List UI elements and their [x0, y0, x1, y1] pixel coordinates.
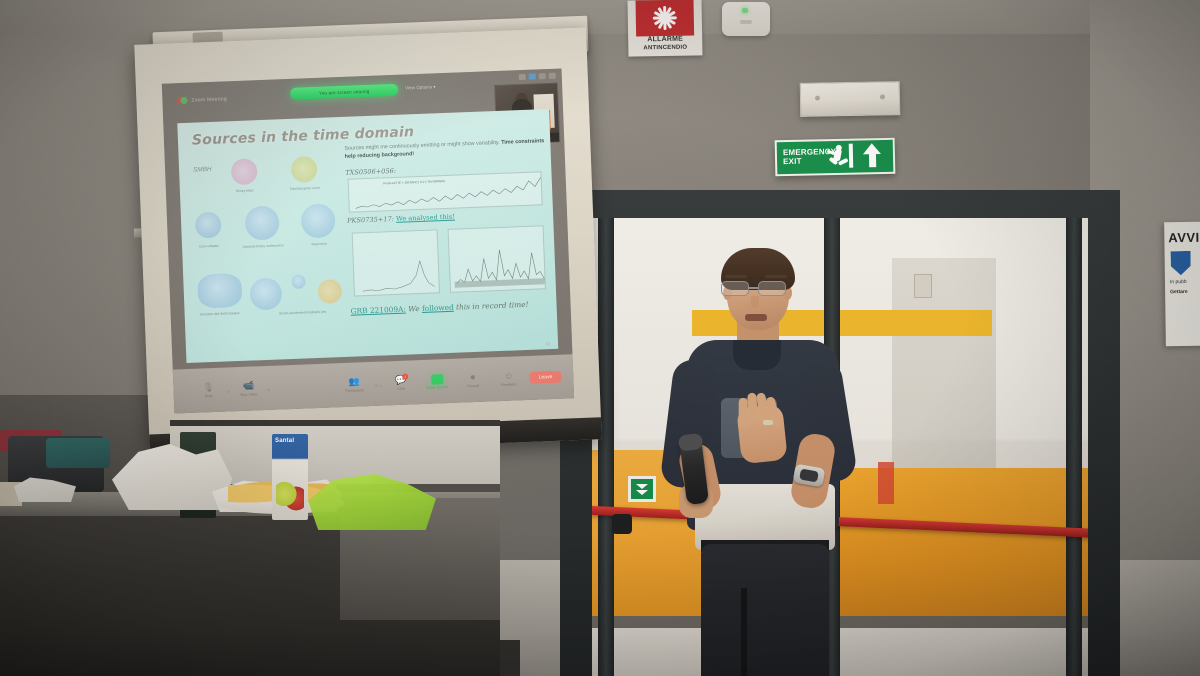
diagram-caption-3: Compact-binary coalescence [242, 243, 283, 249]
zoom-reactions-button[interactable]: ☺ Reactions [492, 370, 527, 388]
white-paper-bag [112, 444, 232, 510]
notice-info-icon [1171, 251, 1191, 275]
corridor-wall-switch [914, 274, 932, 298]
lightcurve-plot-left [352, 229, 440, 296]
diagram-caption-2: Core-collapse [199, 244, 219, 249]
mute-caret-icon[interactable]: ▴ [228, 389, 230, 398]
source-label-grb: GRB 221009A: We followed this in record … [350, 300, 528, 316]
video-camera-icon: 📹 [243, 380, 254, 391]
grb-link[interactable]: GRB 221009A: [350, 305, 406, 316]
fire-alarm-sign: ALLARME ANTINCENDIO [628, 0, 703, 57]
zoom-leave-button[interactable]: Leave [529, 371, 561, 384]
projected-image-area: Zoom Meeting You are screen sharing View… [162, 68, 574, 413]
presenter-brow-right [765, 275, 787, 278]
grb-followed-link[interactable]: followed [422, 303, 454, 313]
zoom-share-screen-button[interactable]: Share Screen [420, 374, 455, 391]
lightcurve-svg-left [353, 230, 441, 297]
share-screen-label: Share Screen [426, 386, 448, 390]
door-mullion-right [1066, 218, 1082, 676]
chat-bubble-icon: 💬1 [395, 374, 406, 385]
participants-label: Participants [345, 389, 364, 393]
zoom-record-button[interactable]: ⏺ Record [456, 371, 491, 389]
shirt-collar [733, 340, 781, 370]
projection-screen-assembly: Zoom Meeting You are screen sharing View… [120, 8, 600, 456]
slide-page-number: 13 [545, 341, 550, 346]
chat-label: Chat [397, 387, 405, 391]
diagram-caption-1: Tidal disruption event [290, 186, 320, 191]
door-handle[interactable] [612, 514, 632, 534]
notice-line-2: Gettare [1165, 285, 1200, 296]
notice-line-1: In pubb [1165, 275, 1200, 286]
juice-carton-santal: Santal [272, 434, 308, 520]
presentation-slide: Sources in the time domain Sources might… [177, 109, 558, 363]
pks-link[interactable]: We analysed this! [396, 213, 455, 223]
zoom-meeting-window[interactable]: Zoom Meeting You are screen sharing View… [162, 68, 574, 413]
projection-screen: Zoom Meeting You are screen sharing View… [134, 27, 601, 456]
up-arrow-icon [860, 143, 885, 169]
presenter [655, 248, 865, 676]
participants-count: 12 [373, 383, 378, 392]
presenter-nose [751, 296, 759, 308]
zoom-logo-icon [180, 97, 187, 104]
fire-alarm-label: ALLARME ANTINCENDIO [628, 35, 702, 53]
video-caret-icon[interactable]: ▴ [268, 387, 270, 396]
diagram-caption-0: Binary black [236, 188, 254, 193]
lightcurve-plot-right [448, 225, 546, 293]
lightcurve-svg-right [449, 226, 547, 294]
corridor-red-object [878, 462, 894, 504]
chat-badge: 1 [402, 373, 408, 379]
emergency-exit-sign: EMERGENCY EXIT [775, 138, 896, 177]
down-chevron-exit-icon [631, 479, 653, 499]
running-person-icon [823, 144, 854, 171]
zoom-logo: Zoom Meeting [180, 95, 227, 104]
door-mullion-left [598, 218, 614, 676]
photo-scene: ALLARME ANTINCENDIO EMERGENCY EXIT AVVIS… [0, 0, 1200, 676]
share-screen-icon [431, 374, 443, 384]
notice-heading: AVVISO [1164, 222, 1200, 246]
participants-caret-icon[interactable]: ▴ [380, 383, 382, 392]
zoom-logo-label: Zoom Meeting [191, 96, 227, 103]
stop-video-label: Stop Video [240, 393, 258, 397]
trouser-seam [741, 588, 747, 676]
restore-icon[interactable] [529, 73, 536, 79]
screen-share-banner[interactable]: You are screen sharing [290, 84, 398, 100]
emergency-light-icon [800, 81, 901, 117]
juice-brand-label: Santal [275, 438, 305, 454]
maximize-icon[interactable] [539, 73, 546, 79]
zoom-toolbar[interactable]: 🎙 Mute ▴ 📹 Stop Video ▴ [173, 354, 574, 413]
notice-poster: AVVISO In pubb Gettare [1164, 222, 1200, 347]
view-options-label: View Options [405, 84, 432, 90]
reactions-icon: ☺ [503, 370, 514, 381]
zoom-stop-video-button[interactable]: 📹 Stop Video [231, 380, 266, 398]
lightcurve-plot-txs: Fermi-LAT (E > 100 MeV) | 0.1-1 TeV (MAG… [348, 171, 543, 212]
exit-sign-label: EMERGENCY EXIT [777, 148, 823, 167]
microphone-icon: 🎙 [203, 382, 214, 393]
snack-table: Santal [0, 416, 500, 676]
mute-label: Mute [205, 395, 213, 399]
presenter-mouth [745, 314, 767, 321]
zoom-mute-button[interactable]: 🎙 Mute [191, 381, 226, 399]
presenter-brow-left [725, 275, 747, 278]
zoom-participants-button[interactable]: 👥 Participants [337, 376, 372, 394]
fire-alarm-burst-icon [636, 0, 695, 37]
source-label-pks: PKS0735+17: We analysed this! [347, 213, 455, 225]
record-icon: ⏺ [467, 372, 478, 383]
source-types-diagram: Binary black Tidal disruption event Core… [187, 151, 350, 355]
diagram-caption-4: Supernova [311, 242, 327, 247]
view-options-button[interactable]: View Options ▾ [405, 84, 436, 91]
record-label: Record [467, 385, 479, 389]
presenter-hand-right [736, 404, 788, 465]
motion-sensor-icon [722, 2, 770, 36]
window-controls[interactable] [519, 73, 556, 80]
source-label-txs: TXS0506+056: [345, 167, 396, 177]
diagram-caption-5: Accretion-disk field changes [200, 311, 240, 317]
teal-case [46, 438, 110, 468]
minimize-icon[interactable] [519, 74, 526, 80]
presenter-trousers [701, 544, 829, 676]
reactions-label: Reactions [501, 383, 517, 387]
people-icon: 👥 [349, 376, 360, 387]
eyeglasses-icon [721, 281, 797, 297]
close-icon[interactable] [549, 73, 556, 79]
zoom-chat-button[interactable]: 💬1 Chat [384, 374, 419, 392]
diagram-caption-6: Shock-accelerated relativistic jets [279, 310, 326, 316]
exit-chevron-sign [628, 476, 656, 502]
finger-ring [763, 420, 773, 425]
